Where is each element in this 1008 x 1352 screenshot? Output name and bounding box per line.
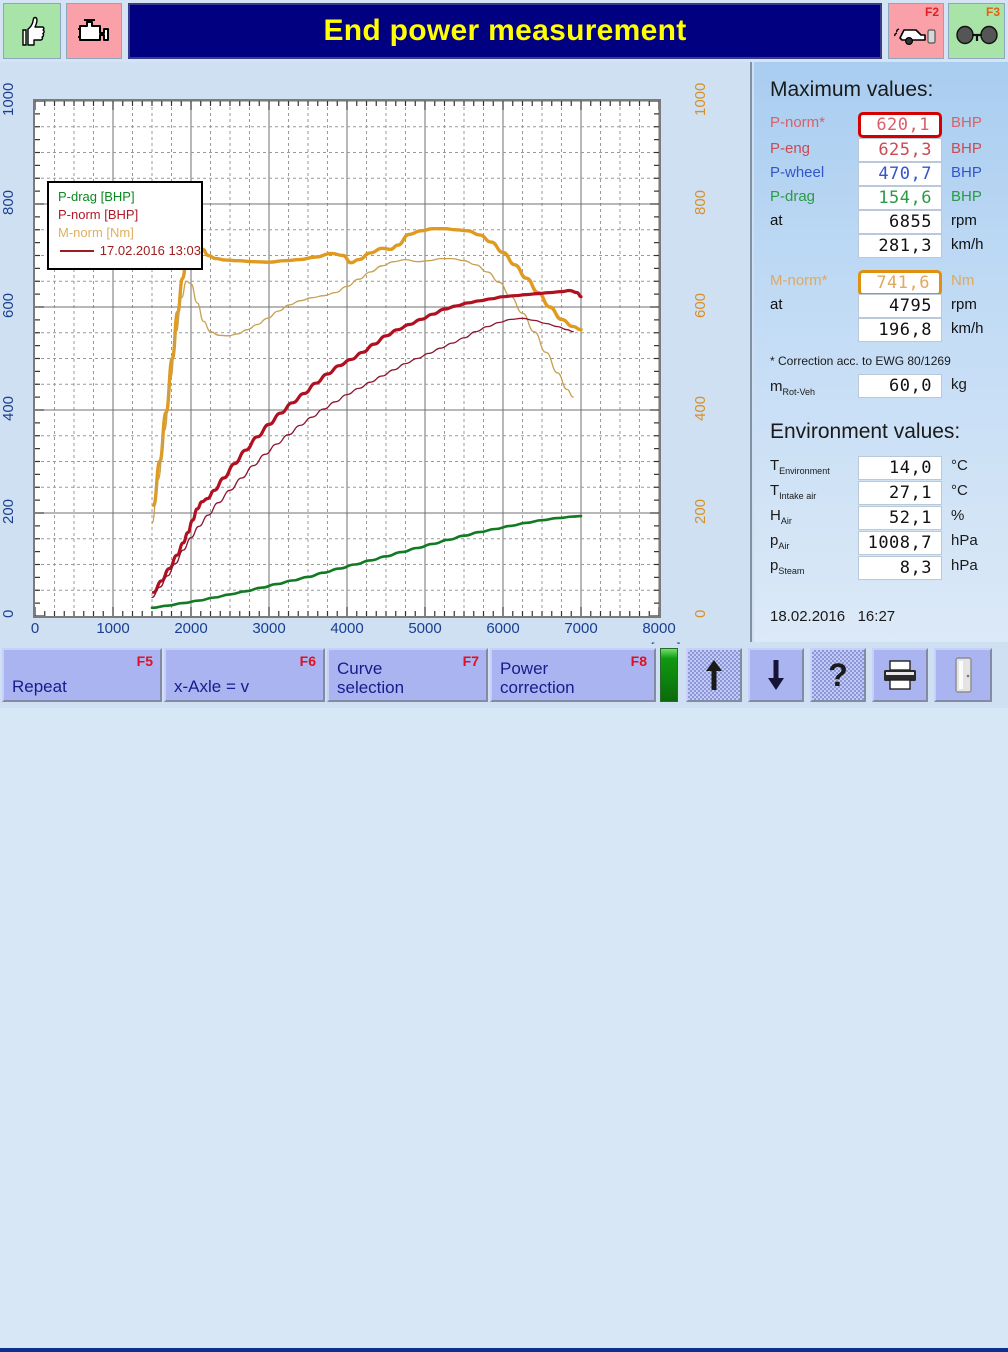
curve-m-norm (154, 229, 581, 506)
y-axis-right-tick: 200 (692, 487, 726, 535)
max-row-unit: BHP (951, 114, 982, 131)
max-row-label: at (770, 212, 783, 229)
rot-mass-label: mRot-Veh (770, 378, 815, 397)
max-row-label: P-wheel (770, 164, 824, 181)
max-row-unit: Nm (951, 272, 974, 289)
max-row-label: P-drag (770, 188, 815, 205)
max-row-value[interactable]: 6855 (858, 210, 942, 234)
x-axis-tick: 1000 (96, 620, 129, 637)
rot-mass-unit: kg (951, 376, 967, 393)
car-exhaust-icon (894, 21, 938, 49)
legend-timestamp-text: 17.02.2016 13:03 (100, 242, 201, 260)
max-values-heading: Maximum values: (770, 78, 933, 102)
page-title: End power measurement (323, 14, 686, 48)
curve-p-wheel (152, 318, 573, 597)
curve-m-wheel (152, 259, 573, 524)
legend-item-p-drag: P-drag [BHP] (58, 188, 201, 206)
max-row-value[interactable]: 281,3 (858, 234, 942, 258)
x-axis-tick: 2000 (174, 620, 207, 637)
legend-item-m-norm: M-norm [Nm] (58, 224, 201, 242)
env-row-unit: °C (951, 482, 968, 499)
env-row-unit: °C (951, 457, 968, 474)
x-axis-tick: 8000 (642, 620, 675, 637)
x-axis-tick: 5000 (408, 620, 441, 637)
function-key-number: F7 (463, 653, 479, 669)
x-axis-tick: 3000 (252, 620, 285, 637)
function-key-label: Curve selection (337, 659, 404, 697)
bottom-divider (0, 1348, 1008, 1352)
y-axis-right-tick: 1000 (692, 75, 726, 123)
max-row-unit: km/h (951, 320, 984, 337)
function-key-bar: F5RepeatF6x-Axle = vF7Curve selectionF8P… (0, 644, 1008, 708)
confirm-ok-button[interactable] (3, 3, 61, 59)
y-axis-left-tick: 1000 (0, 77, 31, 121)
max-row-value[interactable]: 620,1 (858, 112, 942, 138)
report-timestamp: 18.02.2016 16:27 (770, 608, 895, 625)
power-curve-plot[interactable] (33, 99, 661, 618)
function-key-label: Repeat (12, 677, 67, 696)
env-row-label: TIntake air (770, 482, 816, 501)
y-axis-left: 02004006008001000 (0, 99, 31, 618)
y-axis-left-tick: 200 (0, 489, 31, 533)
x-axis: 010002000300040005000600070008000 (33, 618, 665, 642)
x-axis-tick: 6000 (486, 620, 519, 637)
exhaust-measurement-button[interactable]: F2 (888, 3, 944, 59)
print-button[interactable] (872, 648, 928, 702)
max-row-unit: rpm (951, 212, 977, 229)
y-axis-right-tick: 800 (692, 178, 726, 226)
env-row-label: TEnvironment (770, 457, 830, 476)
x-axis-tick: 7000 (564, 620, 597, 637)
max-row-label: M-norm* (770, 272, 828, 289)
env-row-label: pAir (770, 532, 789, 551)
max-row-label: at (770, 296, 783, 313)
f3-key-label: F3 (986, 6, 1000, 18)
function-key-f8[interactable]: F8Power correction (490, 648, 656, 702)
env-row-value[interactable]: 27,1 (858, 481, 942, 505)
env-row-label: pSteam (770, 557, 804, 576)
legend-item-run-timestamp: 17.02.2016 13:03 (58, 242, 201, 260)
arrow-down-icon (765, 658, 787, 692)
y-axis-right-tick: 600 (692, 281, 726, 329)
max-row-unit: rpm (951, 296, 977, 313)
max-row-value[interactable]: 741,6 (858, 270, 942, 296)
application-window: End power measurement F2 F3 02004 (0, 0, 1008, 708)
y-axis-left-tick: 800 (0, 180, 31, 224)
scroll-up-button[interactable] (686, 648, 742, 702)
y-axis-left-tick: 600 (0, 283, 31, 327)
env-row-value[interactable]: 8,3 (858, 556, 942, 580)
max-row-value[interactable]: 154,6 (858, 186, 942, 210)
report-date: 18.02.2016 (770, 608, 845, 625)
f2-key-label: F2 (925, 6, 939, 18)
function-key-number: F8 (631, 653, 647, 669)
status-led (660, 648, 678, 702)
max-row-value[interactable]: 196,8 (858, 318, 942, 342)
function-key-f7[interactable]: F7Curve selection (327, 648, 488, 702)
max-row-unit: BHP (951, 164, 982, 181)
thumbs-up-icon (15, 14, 49, 48)
plot-canvas (35, 101, 659, 616)
printer-icon (881, 659, 919, 691)
max-row-value[interactable]: 470,7 (858, 162, 942, 186)
legend-line-swatch (60, 250, 94, 252)
function-key-label: Power correction (500, 659, 575, 697)
function-key-label: x-Axle = v (174, 677, 249, 696)
arrow-up-icon (703, 658, 725, 692)
env-row-unit: hPa (951, 532, 978, 549)
engine-icon (76, 17, 112, 45)
env-row-value[interactable]: 14,0 (858, 456, 942, 480)
y-axis-left-tick: 0 (0, 592, 31, 636)
correction-footnote: * Correction acc. to EWG 80/1269 (770, 354, 951, 368)
max-row-label: P-eng (770, 140, 810, 157)
top-toolbar: End power measurement F2 F3 (0, 0, 1008, 62)
max-row-label: P-norm* (770, 114, 825, 131)
function-key-number: F5 (137, 653, 153, 669)
rot-mass-field[interactable]: 60,0 (858, 374, 942, 398)
report-time: 16:27 (858, 608, 896, 625)
env-row-unit: hPa (951, 557, 978, 574)
max-row-unit: km/h (951, 236, 984, 253)
axle-selection-button[interactable]: F3 (948, 3, 1005, 59)
chart-legend: P-drag [BHP] P-norm [BHP] M-norm [Nm] 17… (47, 181, 203, 270)
max-row-unit: BHP (951, 188, 982, 205)
x-axis-tick: 4000 (330, 620, 363, 637)
env-row-value[interactable]: 52,1 (858, 506, 942, 530)
values-pane: Maximum values: P-norm*620,1BHPP-eng625,… (754, 62, 1008, 642)
function-key-f5[interactable]: F5Repeat (2, 648, 162, 702)
axle-wheels-icon (954, 22, 1000, 48)
max-row-value[interactable]: 4795 (858, 294, 942, 318)
chart-pane: 02004006008001000 02004006008001000 0100… (0, 62, 752, 642)
scroll-down-button[interactable] (748, 648, 804, 702)
function-key-number: F6 (300, 653, 316, 669)
max-row-value[interactable]: 625,3 (858, 138, 942, 162)
exit-button[interactable] (934, 648, 992, 702)
x-axis-tick: 0 (31, 620, 39, 637)
door-exit-icon (951, 656, 975, 694)
y-axis-right: 02004006008001000 (692, 99, 726, 618)
function-key-f6[interactable]: F6x-Axle = v (164, 648, 325, 702)
main-content: 02004006008001000 02004006008001000 0100… (0, 62, 1008, 642)
legend-item-p-norm: P-norm [BHP] (58, 206, 201, 224)
env-row-label: HAir (770, 507, 792, 526)
env-row-unit: % (951, 507, 964, 524)
question-icon: ? (828, 659, 848, 691)
max-row-unit: BHP (951, 140, 982, 157)
y-axis-right-tick: 0 (692, 590, 726, 638)
help-button[interactable]: ? (810, 648, 866, 702)
env-row-value[interactable]: 1008,7 (858, 531, 942, 555)
window-title-bar: End power measurement (128, 3, 882, 59)
engine-settings-button[interactable] (66, 3, 122, 59)
env-values-heading: Environment values: (770, 420, 960, 444)
y-axis-right-tick: 400 (692, 384, 726, 432)
y-axis-left-tick: 400 (0, 386, 31, 430)
